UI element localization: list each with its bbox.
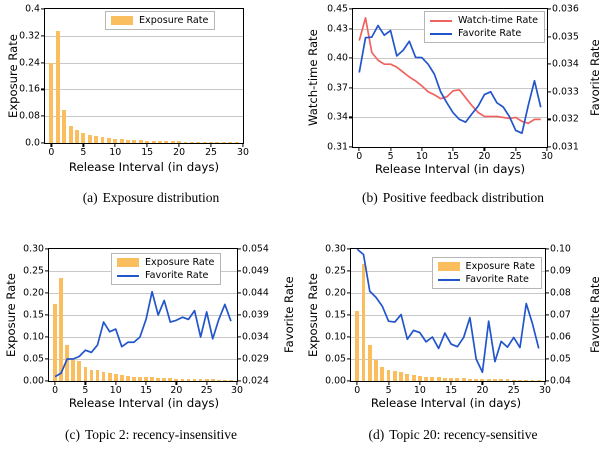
y-axis-right-tick-label: 0.039 — [242, 310, 269, 321]
y-axis-right-tick-mark — [547, 146, 551, 147]
x-axis-tick-mark — [83, 143, 84, 147]
y-axis-right-tick-mark — [547, 64, 551, 65]
x-axis-tick-mark — [236, 381, 237, 385]
x-axis-tick-label: 10 — [416, 151, 428, 162]
bar — [113, 139, 117, 143]
bar — [171, 141, 175, 143]
x-axis-tick-label: 25 — [205, 147, 217, 158]
panel-d-ylabel-right: Favorite Rate — [588, 248, 602, 382]
x-axis-tick-label: 0 — [354, 385, 360, 396]
legend-item: Exposure Rate — [438, 261, 535, 272]
y-axis-right-tick-label: 0.034 — [242, 332, 269, 343]
y-axis-right-tick-mark — [545, 270, 549, 271]
bar — [158, 141, 162, 143]
bar — [203, 142, 207, 143]
y-axis-right-tick-mark — [547, 91, 551, 92]
caption-c: (c)Topic 2: recency-insensitive — [0, 427, 302, 443]
y-axis-right-tick-mark — [237, 314, 241, 315]
x-axis-tick-mark — [513, 381, 514, 385]
gridline — [45, 89, 243, 90]
panel-a-exposure-distribution: Exposure Rate 0.00.080.160.240.320.40510… — [0, 0, 302, 185]
panel-d-xlabel: Release Interval (in days) — [346, 396, 546, 410]
y-axis-right-tick-label: 0.035 — [552, 31, 579, 42]
y-axis-tick-label: 0.05 — [23, 354, 44, 365]
y-axis-tick-label: 0.16 — [19, 84, 40, 95]
legend-item: Favorite Rate — [430, 28, 538, 39]
gridline — [45, 116, 243, 117]
bar — [222, 142, 226, 143]
legend-label: Exposure Rate — [145, 257, 214, 268]
caption-c-text: Topic 2: recency-insensitive — [85, 427, 237, 442]
legend-swatch-line — [430, 20, 452, 22]
legend[interactable]: Exposure RateFavorite Rate — [432, 257, 542, 289]
legend-swatch-line — [117, 275, 139, 277]
x-axis-tick-label: 20 — [476, 385, 488, 396]
panel-d-ylabel: Exposure Rate — [306, 248, 320, 382]
x-axis-tick-label: 15 — [141, 147, 153, 158]
x-axis-tick-label: 30 — [237, 147, 249, 158]
y-axis-tick-mark — [41, 89, 45, 90]
bar — [235, 142, 239, 143]
x-axis-tick-label: 25 — [510, 151, 522, 162]
caption-a-label: (a) — [83, 190, 98, 205]
x-axis-tick-mark — [515, 147, 516, 151]
x-axis-tick-mark — [359, 147, 360, 151]
gridline — [45, 36, 243, 37]
x-axis-tick-mark — [546, 147, 547, 151]
y-axis-tick-label: 0.32 — [19, 30, 40, 41]
x-axis-tick-label: 5 — [388, 151, 394, 162]
panel-c-topic2-recency-insensitive: Exposure Rate 0.000.050.100.150.200.250.… — [0, 232, 302, 422]
legend[interactable]: Exposure Rate — [105, 11, 215, 30]
bar — [209, 142, 213, 143]
x-axis-tick-mark — [176, 381, 177, 385]
x-axis-tick-mark — [115, 381, 116, 385]
y-axis-tick-mark — [41, 62, 45, 63]
bar — [62, 110, 66, 143]
y-axis-tick-label: 0.10 — [23, 332, 44, 343]
gridline — [45, 63, 243, 64]
caption-d-text: Topic 20: recency-sensitive — [389, 427, 537, 442]
bar — [184, 142, 188, 143]
bar — [69, 126, 73, 143]
legend-label: Favorite Rate — [145, 270, 208, 281]
y-axis-tick-label: 0.24 — [19, 57, 40, 68]
y-axis-tick-label: 0.31 — [327, 142, 348, 153]
x-axis-tick-label: 30 — [539, 385, 551, 396]
x-axis-tick-label: 30 — [231, 385, 243, 396]
y-axis-tick-label: 0.43 — [327, 23, 348, 34]
x-axis-tick-label: 0 — [52, 385, 58, 396]
x-axis-tick-mark — [242, 143, 243, 147]
x-axis-tick-label: 10 — [110, 385, 122, 396]
y-axis-tick-label: 0.15 — [325, 310, 346, 321]
x-axis-tick-label: 15 — [447, 151, 459, 162]
y-axis-tick-label: 0.20 — [23, 288, 44, 299]
x-axis-tick-mark — [145, 381, 146, 385]
x-axis-tick-mark — [453, 147, 454, 151]
y-axis-tick-mark — [41, 8, 45, 9]
y-axis-tick-label: 0.25 — [23, 266, 44, 277]
legend-label: Watch-time Rate — [458, 15, 538, 26]
legend-item: Favorite Rate — [438, 274, 535, 285]
legend-label: Favorite Rate — [466, 274, 529, 285]
bar — [81, 133, 85, 143]
bar — [132, 140, 136, 143]
y-axis-tick-label: 0.0 — [25, 138, 40, 149]
legend-swatch-line — [430, 33, 452, 35]
x-axis-tick-mark — [544, 381, 545, 385]
x-axis-tick-mark — [115, 143, 116, 147]
bar — [228, 142, 232, 143]
x-axis-tick-label: 20 — [478, 151, 490, 162]
x-axis-tick-label: 10 — [414, 385, 426, 396]
y-axis-right-tick-label: 0.031 — [552, 142, 579, 153]
x-axis-tick-label: 0 — [356, 151, 362, 162]
bar — [101, 137, 105, 143]
legend[interactable]: Exposure RateFavorite Rate — [111, 253, 221, 285]
caption-d-label: (d) — [369, 427, 385, 442]
y-axis-right-tick-label: 0.044 — [242, 288, 269, 299]
y-axis-right-tick-mark — [237, 358, 241, 359]
x-axis-tick-mark — [484, 147, 485, 151]
legend-swatch-line — [438, 279, 460, 281]
panel-b-ylabel-right: Favorite Rate — [588, 8, 602, 148]
x-axis-tick-mark — [357, 381, 358, 385]
x-axis-tick-label: 20 — [170, 385, 182, 396]
y-axis-right-tick-label: 0.036 — [552, 4, 579, 15]
bar — [56, 31, 60, 143]
bar — [215, 142, 219, 143]
y-axis-right-tick-label: 0.07 — [550, 310, 571, 321]
x-axis-tick-mark — [51, 143, 52, 147]
y-axis-right-tick-label: 0.049 — [242, 266, 269, 277]
y-axis-right-tick-mark — [547, 36, 551, 37]
line-series — [55, 292, 231, 377]
y-axis-tick-label: 0.25 — [325, 266, 346, 277]
panel-b-positive-feedback-distribution: Watch-time Rate 0.310.340.370.400.430.45… — [302, 0, 604, 185]
panel-a-plot-area: 0.00.080.160.240.320.4051015202530Exposu… — [44, 8, 244, 144]
y-axis-tick-label: 0.37 — [327, 82, 348, 93]
panel-a-xlabel: Release Interval (in days) — [44, 160, 244, 174]
bar — [152, 141, 156, 143]
y-axis-tick-label: 0.45 — [327, 4, 348, 15]
y-axis-tick-label: 0.00 — [325, 376, 346, 387]
x-axis-tick-mark — [421, 147, 422, 151]
y-axis-right-tick-label: 0.05 — [550, 354, 571, 365]
y-axis-right-tick-mark — [545, 358, 549, 359]
x-axis-tick-mark — [147, 143, 148, 147]
y-axis-right-tick-label: 0.06 — [550, 332, 571, 343]
legend-item: Exposure Rate — [117, 257, 214, 268]
y-axis-right-tick-mark — [545, 336, 549, 337]
x-axis-tick-mark — [85, 381, 86, 385]
bar — [177, 141, 181, 143]
caption-b-text: Positive feedback distribution — [383, 190, 544, 205]
panel-d-topic20-recency-sensitive: Exposure Rate 0.000.050.100.150.200.250.… — [302, 232, 604, 422]
x-axis-tick-label: 25 — [508, 385, 520, 396]
x-axis-tick-mark — [210, 143, 211, 147]
y-axis-tick-label: 0.00 — [23, 376, 44, 387]
x-axis-tick-label: 5 — [386, 385, 392, 396]
y-axis-tick-mark — [41, 142, 45, 143]
x-axis-tick-mark — [419, 381, 420, 385]
x-axis-tick-label: 15 — [445, 385, 457, 396]
bar — [107, 138, 111, 143]
bar — [139, 140, 143, 143]
y-axis-tick-label: 0.40 — [327, 53, 348, 64]
x-axis-tick-label: 10 — [109, 147, 121, 158]
y-axis-right-tick-mark — [547, 8, 551, 9]
y-axis-tick-label: 0.4 — [25, 4, 40, 15]
legend-label: Exposure Rate — [466, 261, 535, 272]
bar — [164, 141, 168, 143]
x-axis-tick-mark — [390, 147, 391, 151]
legend-item: Exposure Rate — [111, 15, 208, 26]
y-axis-tick-label: 0.20 — [325, 288, 346, 299]
y-axis-right-tick-label: 0.032 — [552, 114, 579, 125]
bar — [145, 141, 149, 143]
x-axis-tick-mark — [482, 381, 483, 385]
y-axis-right-tick-mark — [237, 292, 241, 293]
y-axis-right-tick-label: 0.033 — [552, 86, 579, 97]
caption-b-label: (b) — [362, 190, 378, 205]
panel-c-xlabel: Release Interval (in days) — [44, 396, 244, 410]
y-axis-right-tick-label: 0.09 — [550, 266, 571, 277]
panel-c-plot-area: 0.000.050.100.150.200.250.300.0240.0290.… — [48, 248, 238, 382]
y-axis-right-tick-label: 0.024 — [242, 376, 269, 387]
y-axis-tick-mark — [41, 116, 45, 117]
bar — [126, 140, 130, 143]
y-axis-right-tick-mark — [545, 292, 549, 293]
y-axis-tick-label: 0.30 — [23, 244, 44, 255]
bar — [88, 135, 92, 143]
legend-item: Favorite Rate — [117, 270, 214, 281]
y-axis-right-tick-label: 0.04 — [550, 376, 571, 387]
x-axis-tick-mark — [388, 381, 389, 385]
panel-c-ylabel-right: Favorite Rate — [282, 248, 296, 382]
x-axis-tick-label: 15 — [140, 385, 152, 396]
y-axis-right-tick-mark — [237, 336, 241, 337]
caption-a-text: Exposure distribution — [103, 190, 220, 205]
legend-label: Exposure Rate — [139, 15, 208, 26]
caption-b: (b)Positive feedback distribution — [302, 190, 604, 206]
y-axis-right-tick-mark — [545, 314, 549, 315]
y-axis-tick-label: 0.30 — [325, 244, 346, 255]
caption-d: (d)Topic 20: recency-sensitive — [302, 427, 604, 443]
panel-b-xlabel: Release Interval (in days) — [350, 162, 550, 176]
caption-a: (a)Exposure distribution — [0, 190, 302, 206]
y-axis-right-tick-label: 0.029 — [242, 354, 269, 365]
legend-swatch-bar — [117, 258, 139, 267]
figure-four-panel-distributions: Exposure Rate 0.00.080.160.240.320.40510… — [0, 0, 604, 468]
legend-item: Watch-time Rate — [430, 15, 538, 26]
x-axis-tick-label: 5 — [80, 147, 86, 158]
y-axis-right-tick-mark — [545, 248, 549, 249]
x-axis-tick-mark — [179, 143, 180, 147]
bar — [196, 142, 200, 143]
x-axis-tick-label: 20 — [173, 147, 185, 158]
y-axis-right-tick-label: 0.08 — [550, 288, 571, 299]
y-axis-right-tick-label: 0.034 — [552, 59, 579, 70]
y-axis-right-tick-mark — [237, 380, 241, 381]
y-axis-tick-label: 0.34 — [327, 112, 348, 123]
x-axis-tick-mark — [451, 381, 452, 385]
legend-swatch-bar — [111, 16, 133, 25]
y-axis-tick-label: 0.10 — [325, 332, 346, 343]
panel-a-ylabel: Exposure Rate — [6, 12, 20, 140]
y-axis-tick-label: 0.08 — [19, 111, 40, 122]
y-axis-right-tick-mark — [237, 270, 241, 271]
x-axis-tick-label: 25 — [201, 385, 213, 396]
panel-d-plot-area: 0.000.050.100.150.200.250.300.040.050.06… — [350, 248, 546, 382]
bar — [94, 136, 98, 143]
bar — [75, 130, 79, 143]
bar — [190, 142, 194, 143]
x-axis-tick-label: 5 — [82, 385, 88, 396]
y-axis-right-tick-label: 0.10 — [550, 244, 571, 255]
bar — [49, 63, 53, 143]
panel-c-ylabel: Exposure Rate — [4, 248, 18, 382]
bar — [120, 139, 124, 143]
y-axis-right-tick-label: 0.054 — [242, 244, 269, 255]
legend-label: Favorite Rate — [458, 28, 521, 39]
x-axis-tick-label: 0 — [48, 147, 54, 158]
y-axis-tick-mark — [41, 35, 45, 36]
y-axis-tick-label: 0.05 — [325, 354, 346, 365]
legend-swatch-bar — [438, 262, 460, 271]
legend[interactable]: Watch-time RateFavorite Rate — [424, 11, 545, 43]
y-axis-right-tick-mark — [545, 380, 549, 381]
caption-c-label: (c) — [65, 427, 80, 442]
y-axis-right-tick-mark — [237, 248, 241, 249]
y-axis-right-tick-mark — [547, 119, 551, 120]
panel-b-plot-area: 0.310.340.370.400.430.450.0310.0320.0330… — [352, 8, 548, 148]
x-axis-tick-label: 30 — [541, 151, 553, 162]
panel-b-ylabel: Watch-time Rate — [306, 8, 320, 148]
y-axis-tick-label: 0.15 — [23, 310, 44, 321]
x-axis-tick-mark — [54, 381, 55, 385]
x-axis-tick-mark — [206, 381, 207, 385]
